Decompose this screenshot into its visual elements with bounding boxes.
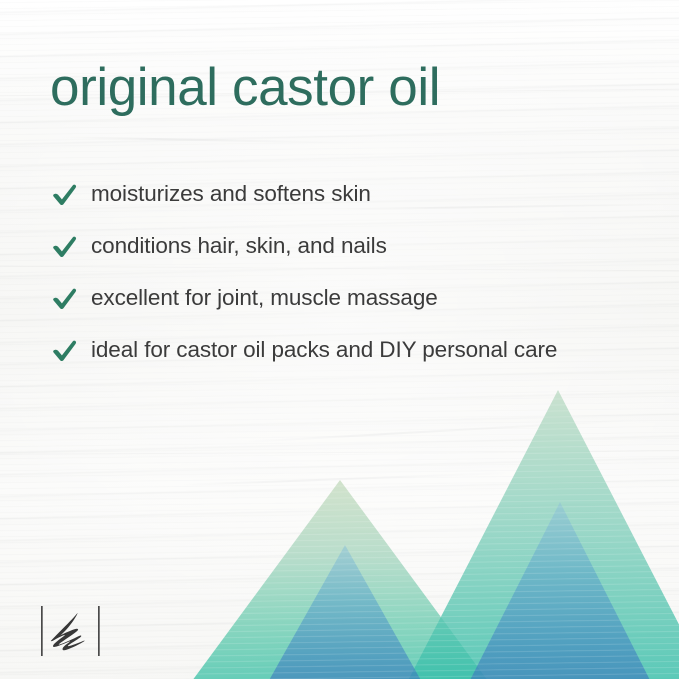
list-item: excellent for joint, muscle massage bbox=[50, 272, 650, 324]
list-item-label: conditions hair, skin, and nails bbox=[91, 235, 387, 258]
list-item-label: moisturizes and softens skin bbox=[91, 183, 371, 206]
list-item: conditions hair, skin, and nails bbox=[50, 220, 650, 272]
checkmark-icon bbox=[50, 179, 80, 209]
checkmark-icon bbox=[50, 283, 80, 313]
brand-logo bbox=[40, 602, 102, 660]
vertical-rule-icon bbox=[41, 606, 43, 656]
checkmark-icon bbox=[50, 335, 80, 365]
benefits-list: moisturizes and softens skin conditions … bbox=[50, 168, 650, 376]
page-title: original castor oil bbox=[50, 57, 440, 118]
list-item: ideal for castor oil packs and DIY perso… bbox=[50, 324, 650, 376]
vertical-rule-icon bbox=[98, 606, 100, 656]
list-item-label: ideal for castor oil packs and DIY perso… bbox=[91, 339, 557, 362]
script-h-monogram-icon bbox=[51, 613, 85, 650]
list-item: moisturizes and softens skin bbox=[50, 168, 650, 220]
list-item-label: excellent for joint, muscle massage bbox=[91, 287, 438, 310]
product-infographic-card: original castor oil moisturizes and soft… bbox=[0, 0, 679, 679]
checkmark-icon bbox=[50, 231, 80, 261]
